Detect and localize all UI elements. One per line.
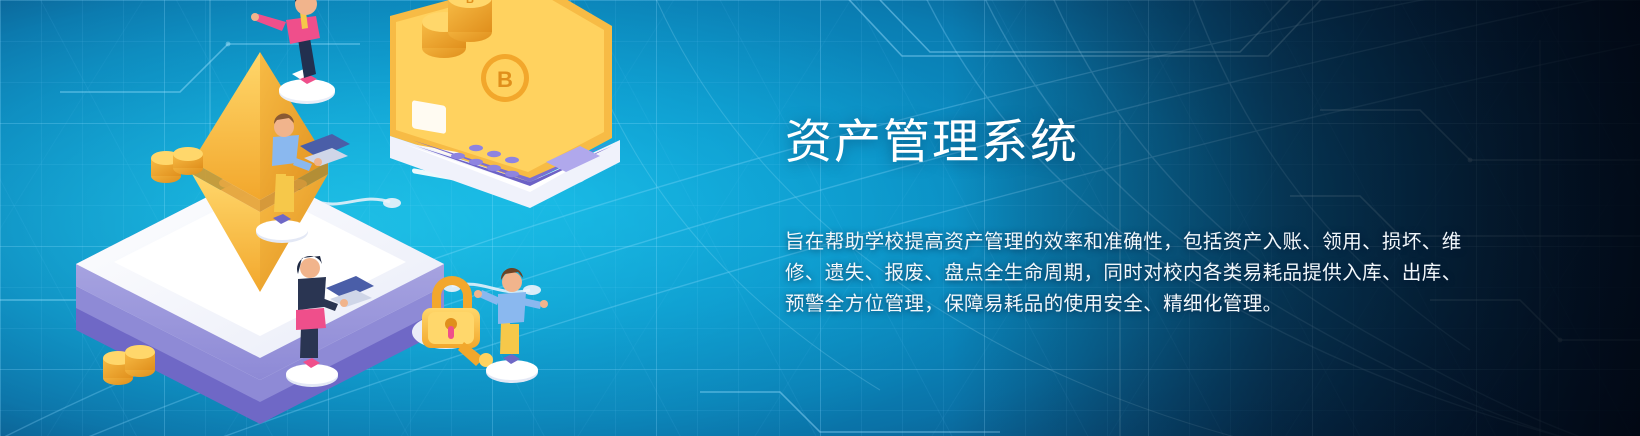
- padlock-icon: [412, 276, 493, 367]
- network-wires: [230, 172, 574, 292]
- person-pink-jacket: [251, 0, 335, 104]
- ethereum-diamond-icon: [192, 52, 328, 292]
- page-title: 资产管理系统: [785, 116, 1485, 169]
- page-description: 旨在帮助学校提高资产管理的效率和准确性，包括资产入账、领用、损坏、维修、遗失、报…: [785, 227, 1465, 320]
- coin-stack-bottom-icon: [103, 345, 155, 385]
- svg-text:B: B: [466, 0, 474, 6]
- network-nodes: [219, 170, 585, 295]
- person-with-padlock-key: [474, 268, 548, 383]
- hero-illustration: B: [60, 0, 620, 436]
- coin-stack-left-icon: [151, 147, 203, 183]
- person-blue-shirt-laptop: [256, 113, 350, 243]
- stacked-platform: [76, 170, 444, 424]
- person-pink-skirt-laptop: [286, 256, 374, 387]
- asset-management-hero-banner: B: [0, 0, 1640, 436]
- banner-text-block: 资产管理系统 旨在帮助学校提高资产管理的效率和准确性，包括资产入账、领用、损坏、…: [785, 0, 1485, 436]
- coin-stack-top-icon: B: [422, 0, 492, 58]
- laptop-dashboard-icon: B: [390, 0, 620, 208]
- svg-text:B: B: [497, 67, 513, 92]
